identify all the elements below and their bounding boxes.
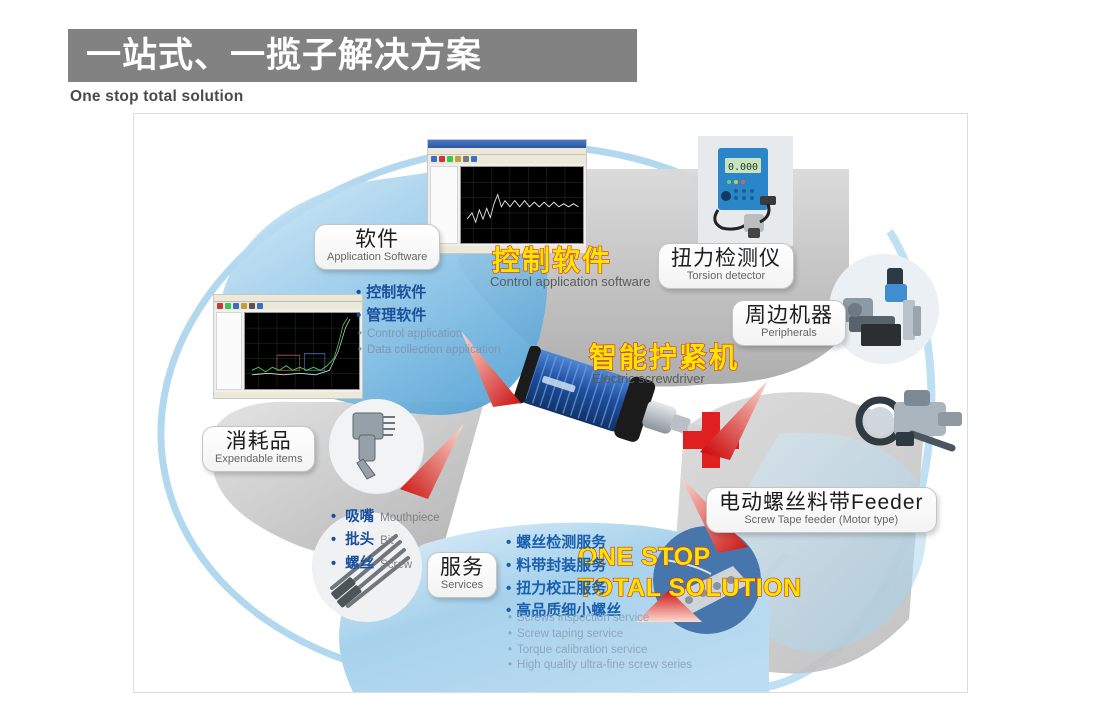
label-cn: 电动螺丝料带Feeder — [719, 492, 924, 514]
list-item: 螺丝Screw — [331, 553, 440, 576]
svg-text:0.000: 0.000 — [728, 162, 758, 173]
bullets-software-en: Control application Data collection appl… — [358, 327, 501, 358]
label-torsion-detector[interactable]: 扭力检测仪 Torsion detector — [658, 243, 794, 289]
page-header-bar: 一站式、一揽子解决方案 — [68, 29, 637, 82]
bullets-services-en: Screws inspection service Screw taping s… — [508, 611, 692, 674]
list-item: 管理软件 — [356, 305, 426, 328]
label-application-software[interactable]: 软件 Application Software — [314, 224, 440, 270]
label-en: Peripherals — [745, 328, 833, 340]
heading-electric-screwdriver-en: Electric screwdriver — [592, 371, 705, 386]
label-screw-tape-feeder[interactable]: 电动螺丝料带Feeder Screw Tape feeder (Motor ty… — [706, 487, 937, 533]
label-en: Application Software — [327, 252, 427, 264]
list-item: High quality ultra-fine screw series — [508, 658, 692, 674]
bullets-software-cn: 控制软件 管理软件 — [356, 282, 426, 327]
item-en: Mouthpiece — [380, 512, 439, 524]
page-subtitle: One stop total solution — [70, 88, 243, 106]
label-en: Services — [440, 580, 484, 592]
item-en: Screw — [380, 559, 412, 571]
list-item: 螺丝检测服务 — [506, 532, 621, 555]
photo-torsion-detector: 0.000 — [698, 136, 793, 246]
red-arrow-right-upper-icon — [694, 376, 772, 464]
item-cn: 螺丝 — [345, 556, 374, 572]
list-item: Torque calibration service — [508, 643, 692, 659]
photo-control-software-screenshot — [427, 139, 587, 254]
photo-data-collection-screenshot — [213, 294, 363, 399]
list-item: Control application — [358, 327, 501, 343]
item-cn: 批头 — [345, 532, 374, 548]
label-en: Screw Tape feeder (Motor type) — [719, 515, 924, 527]
bullets-expendable-items: 吸嘴Mouthpiece 批头Bit 螺丝Screw — [331, 506, 440, 576]
list-item: Screws inspection service — [508, 611, 692, 627]
label-en: Torsion detector — [671, 271, 781, 283]
label-expendable-items[interactable]: 消耗品 Expendable items — [202, 426, 315, 472]
label-cn: 扭力检测仪 — [671, 248, 781, 270]
red-arrow-left-lower-icon — [392, 419, 467, 504]
item-en: Bit — [380, 535, 393, 547]
label-cn: 周边机器 — [745, 305, 833, 327]
heading-control-application-software-cn: 控制软件 — [492, 239, 612, 279]
label-cn: 消耗品 — [215, 431, 302, 453]
diagram-frame: 0.000 — [133, 113, 968, 693]
list-item: 批头Bit — [331, 529, 440, 552]
list-item: Data collection application — [358, 343, 501, 359]
heading-control-application-software-en: Control application software — [490, 274, 650, 289]
label-cn: 服务 — [440, 557, 484, 579]
heading-electric-screwdriver-cn: 智能拧紧机 — [589, 336, 739, 376]
label-en: Expendable items — [215, 454, 302, 466]
photo-screw-tape-feeder — [852, 376, 967, 471]
list-item: 扭力校正服务 — [506, 578, 621, 601]
list-item: 吸嘴Mouthpiece — [331, 506, 440, 529]
label-cn: 软件 — [327, 229, 427, 251]
bullets-services-cn: 螺丝检测服务 料带封装服务 扭力校正服务 高品质细小螺丝 — [506, 532, 621, 623]
page-title: 一站式、一揽子解决方案 — [68, 29, 482, 82]
label-peripherals[interactable]: 周边机器 Peripherals — [732, 300, 846, 346]
item-cn: 吸嘴 — [345, 509, 374, 525]
list-item: Screw taping service — [508, 627, 692, 643]
list-item: 控制软件 — [356, 282, 426, 305]
list-item: 料带封装服务 — [506, 555, 621, 578]
